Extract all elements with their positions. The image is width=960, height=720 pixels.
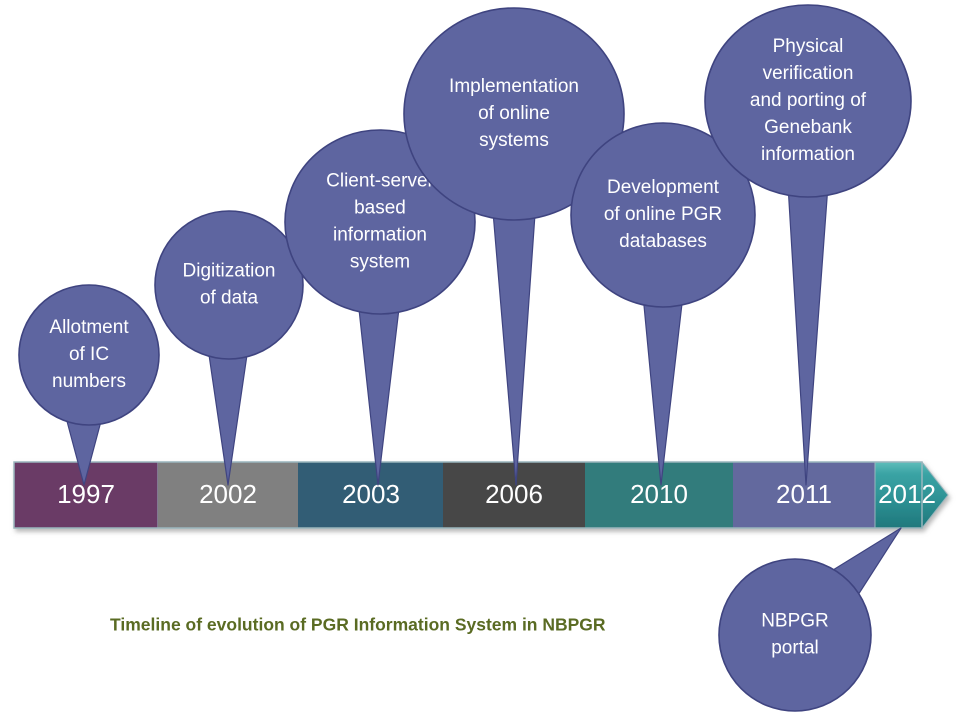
timeline-year-label: 2012 — [878, 479, 936, 509]
callout-bubbles: Allotmentof ICnumbersDigitizationof data… — [19, 5, 911, 711]
callout-text-line: Digitization — [183, 261, 276, 282]
callout-text-line: systems — [479, 130, 549, 151]
callout-text-line: Genebank — [764, 117, 852, 138]
callout-text-line: and porting of — [750, 90, 867, 111]
timeline-segment-2011[interactable]: 2011 — [733, 462, 875, 528]
callout-text-line: of online — [478, 103, 550, 124]
timeline-segment-2010[interactable]: 2010 — [585, 462, 733, 528]
callout-text-line: verification — [763, 63, 854, 84]
callout-text-line: Client-server — [326, 171, 434, 192]
callout-text-line: Implementation — [449, 76, 579, 97]
timeline-bar: 1997200220032006201020112012 — [14, 462, 948, 528]
callout-text-line: Physical — [773, 36, 844, 57]
diagram-canvas: 1997200220032006201020112012 Allotmentof… — [0, 0, 960, 720]
callout-nbpgr-portal[interactable]: NBPGRportal — [719, 559, 871, 711]
callout-text-line: of data — [200, 288, 259, 309]
callout-text-line: information — [761, 144, 855, 165]
callout-bubble-shape — [719, 559, 871, 711]
callout-bubble-shape — [155, 211, 303, 359]
callout-allotment-of-ic-numbers[interactable]: Allotmentof ICnumbers — [19, 285, 159, 425]
timeline-year-label: 2011 — [776, 479, 832, 509]
callout-text-line: NBPGR — [761, 611, 829, 632]
callout-physical-verification-and-porting-of-genebank-information-tail — [788, 185, 828, 485]
timeline-year-label: 1997 — [57, 479, 115, 509]
timeline-year-label: 2003 — [342, 479, 400, 509]
callout-text-line: Allotment — [49, 317, 129, 338]
timeline-diagram: 1997200220032006201020112012 Allotmentof… — [0, 0, 960, 720]
timeline-segment-2012[interactable]: 2012 — [875, 462, 948, 528]
caption-label: Timeline of evolution of PGR Information… — [110, 615, 606, 635]
callout-text-line: numbers — [52, 371, 126, 392]
callout-text-line: Development — [607, 177, 720, 198]
timeline-segment-2003[interactable]: 2003 — [298, 462, 443, 528]
callout-text-line: system — [350, 252, 410, 273]
callout-digitization-of-data[interactable]: Digitizationof data — [155, 211, 303, 359]
callout-implementation-of-online-systems-tail — [492, 200, 536, 485]
timeline-segment-2006[interactable]: 2006 — [443, 462, 585, 528]
callout-text-line: databases — [619, 231, 707, 252]
callout-text-line: of IC — [69, 344, 109, 365]
timeline-year-label: 2010 — [630, 479, 688, 509]
callout-text-line: portal — [771, 638, 819, 659]
callout-text-line: based — [354, 198, 406, 219]
callout-development-of-online-pgr-databases-tail — [643, 295, 683, 485]
callout-physical-verification-and-porting-of-genebank-information[interactable]: Physicalverificationand porting ofGeneba… — [705, 5, 911, 197]
callout-client-server-based-information-system-tail — [358, 300, 400, 485]
diagram-caption: Timeline of evolution of PGR Information… — [110, 615, 606, 635]
timeline-year-label: 2006 — [485, 479, 543, 509]
callout-text-line: information — [333, 225, 427, 246]
callout-text-line: of online PGR — [604, 204, 722, 225]
